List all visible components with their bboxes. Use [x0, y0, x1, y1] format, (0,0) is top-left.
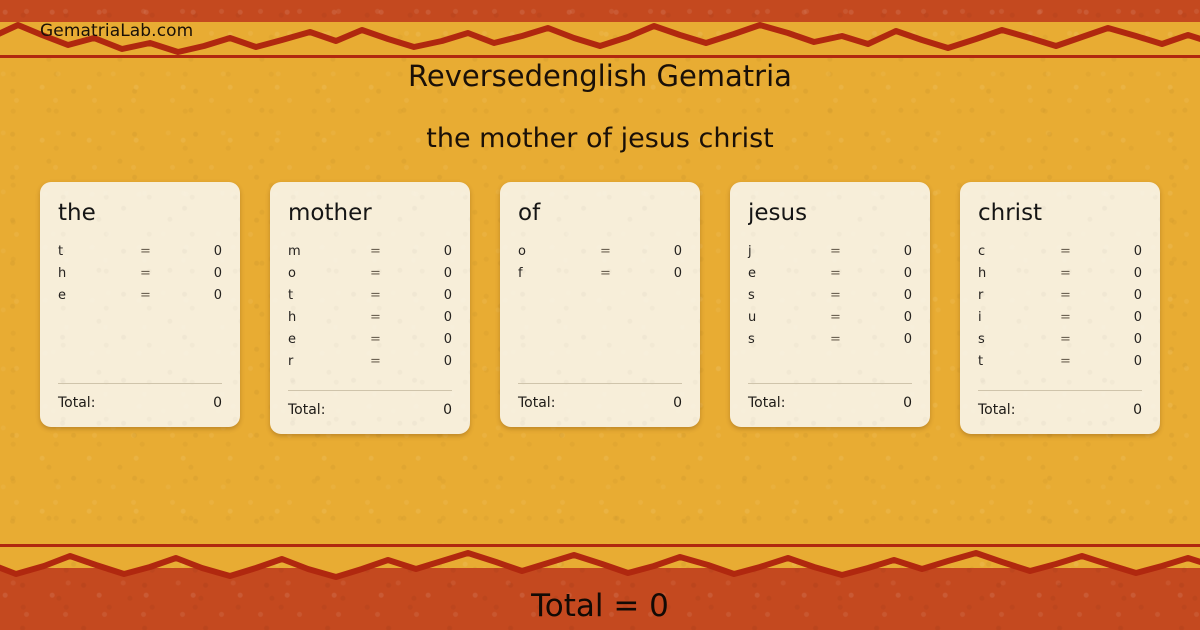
letter-value: 0 — [1102, 310, 1142, 325]
letter-glyph: s — [978, 332, 1060, 347]
card-total-row: Total:0 — [58, 395, 222, 411]
equals-sign: = — [370, 288, 412, 303]
letter-value: 0 — [642, 266, 682, 281]
letter-row: u=0 — [748, 310, 912, 332]
letter-glyph: t — [288, 288, 370, 303]
card-total-label: Total: — [748, 395, 785, 411]
letter-value: 0 — [872, 310, 912, 325]
letter-row: m=0 — [288, 244, 452, 266]
card-total-value: 0 — [673, 395, 682, 411]
word-card-list: thet=0h=0e=0Total:0motherm=0o=0t=0h=0e=0… — [40, 182, 1160, 434]
grand-total: Total = 0 — [0, 588, 1200, 624]
equals-sign: = — [370, 244, 412, 259]
card-total-label: Total: — [978, 402, 1015, 418]
word-card: ofo=0f=0Total:0 — [500, 182, 700, 427]
equals-sign: = — [1060, 332, 1102, 347]
letter-table: t=0h=0e=0 — [58, 244, 222, 369]
card-total-row: Total:0 — [518, 395, 682, 411]
letter-value: 0 — [412, 310, 452, 325]
letter-value: 0 — [872, 266, 912, 281]
letter-value: 0 — [412, 244, 452, 259]
letter-row: h=0 — [288, 310, 452, 332]
letter-glyph: j — [748, 244, 830, 259]
letter-glyph: o — [518, 244, 600, 259]
card-divider — [288, 390, 452, 391]
equals-sign: = — [370, 310, 412, 325]
letter-value: 0 — [1102, 288, 1142, 303]
card-divider — [748, 383, 912, 384]
letter-row: f=0 — [518, 266, 682, 288]
equals-sign: = — [370, 266, 412, 281]
word-card: motherm=0o=0t=0h=0e=0r=0Total:0 — [270, 182, 470, 434]
equals-sign: = — [140, 288, 182, 303]
card-word-title: jesus — [748, 202, 912, 225]
letter-value: 0 — [412, 266, 452, 281]
card-total-value: 0 — [903, 395, 912, 411]
letter-glyph: r — [978, 288, 1060, 303]
letter-row: c=0 — [978, 244, 1142, 266]
card-word-title: christ — [978, 202, 1142, 225]
letter-glyph: m — [288, 244, 370, 259]
card-total-value: 0 — [443, 402, 452, 418]
letter-glyph: e — [748, 266, 830, 281]
equals-sign: = — [370, 332, 412, 347]
letter-row: h=0 — [58, 266, 222, 288]
letter-value: 0 — [872, 288, 912, 303]
page-title: Reversedenglish Gematria — [0, 59, 1200, 93]
equals-sign: = — [1060, 244, 1102, 259]
letter-glyph: o — [288, 266, 370, 281]
letter-glyph: f — [518, 266, 600, 281]
letter-glyph: s — [748, 332, 830, 347]
letter-value: 0 — [1102, 266, 1142, 281]
letter-row: t=0 — [58, 244, 222, 266]
card-word-title: of — [518, 202, 682, 225]
card-total-row: Total:0 — [748, 395, 912, 411]
letter-glyph: e — [58, 288, 140, 303]
letter-row: o=0 — [518, 244, 682, 266]
gematria-result-image: GematriaLab.com Reversedenglish Gematria… — [0, 0, 1200, 630]
letter-value: 0 — [872, 332, 912, 347]
site-logo[interactable]: GematriaLab.com — [40, 21, 193, 41]
equals-sign: = — [1060, 354, 1102, 369]
letter-row: e=0 — [288, 332, 452, 354]
card-total-label: Total: — [288, 402, 325, 418]
letter-row: r=0 — [978, 288, 1142, 310]
letter-row: o=0 — [288, 266, 452, 288]
letter-row: s=0 — [748, 332, 912, 354]
equals-sign: = — [600, 244, 642, 259]
letter-row: r=0 — [288, 354, 452, 376]
equals-sign: = — [830, 266, 872, 281]
letter-glyph: t — [58, 244, 140, 259]
letter-glyph: t — [978, 354, 1060, 369]
letter-value: 0 — [182, 288, 222, 303]
card-divider — [58, 383, 222, 384]
equals-sign: = — [140, 244, 182, 259]
card-word-title: mother — [288, 202, 452, 225]
equals-sign: = — [1060, 266, 1102, 281]
letter-value: 0 — [182, 266, 222, 281]
letter-table: m=0o=0t=0h=0e=0r=0 — [288, 244, 452, 376]
equals-sign: = — [830, 288, 872, 303]
letter-row: t=0 — [288, 288, 452, 310]
card-total-row: Total:0 — [978, 402, 1142, 418]
letter-glyph: h — [288, 310, 370, 325]
letter-glyph: h — [978, 266, 1060, 281]
equals-sign: = — [600, 266, 642, 281]
equals-sign: = — [830, 332, 872, 347]
letter-row: e=0 — [748, 266, 912, 288]
letter-row: s=0 — [978, 332, 1142, 354]
word-card: christc=0h=0r=0i=0s=0t=0Total:0 — [960, 182, 1160, 434]
card-total-value: 0 — [213, 395, 222, 411]
card-divider — [978, 390, 1142, 391]
card-divider — [518, 383, 682, 384]
equals-sign: = — [830, 310, 872, 325]
letter-value: 0 — [412, 288, 452, 303]
letter-row: e=0 — [58, 288, 222, 310]
letter-row: i=0 — [978, 310, 1142, 332]
equals-sign: = — [140, 266, 182, 281]
letter-glyph: c — [978, 244, 1060, 259]
letter-glyph: e — [288, 332, 370, 347]
card-word-title: the — [58, 202, 222, 225]
letter-glyph: h — [58, 266, 140, 281]
phrase-text: the mother of jesus christ — [0, 123, 1200, 154]
card-total-label: Total: — [58, 395, 95, 411]
card-total-row: Total:0 — [288, 402, 452, 418]
letter-value: 0 — [182, 244, 222, 259]
letter-row: s=0 — [748, 288, 912, 310]
letter-glyph: r — [288, 354, 370, 369]
word-card: jesusj=0e=0s=0u=0s=0Total:0 — [730, 182, 930, 427]
letter-value: 0 — [642, 244, 682, 259]
card-total-value: 0 — [1133, 402, 1142, 418]
letter-table: c=0h=0r=0i=0s=0t=0 — [978, 244, 1142, 376]
letter-glyph: i — [978, 310, 1060, 325]
letter-value: 0 — [1102, 354, 1142, 369]
letter-glyph: s — [748, 288, 830, 303]
letter-value: 0 — [1102, 332, 1142, 347]
letter-table: j=0e=0s=0u=0s=0 — [748, 244, 912, 369]
letter-table: o=0f=0 — [518, 244, 682, 369]
letter-row: t=0 — [978, 354, 1142, 376]
letter-value: 0 — [412, 332, 452, 347]
letter-glyph: u — [748, 310, 830, 325]
letter-value: 0 — [1102, 244, 1142, 259]
card-total-label: Total: — [518, 395, 555, 411]
word-card: thet=0h=0e=0Total:0 — [40, 182, 240, 427]
equals-sign: = — [370, 354, 412, 369]
equals-sign: = — [1060, 310, 1102, 325]
letter-row: j=0 — [748, 244, 912, 266]
letter-value: 0 — [872, 244, 912, 259]
equals-sign: = — [1060, 288, 1102, 303]
letter-row: h=0 — [978, 266, 1142, 288]
equals-sign: = — [830, 244, 872, 259]
letter-value: 0 — [412, 354, 452, 369]
